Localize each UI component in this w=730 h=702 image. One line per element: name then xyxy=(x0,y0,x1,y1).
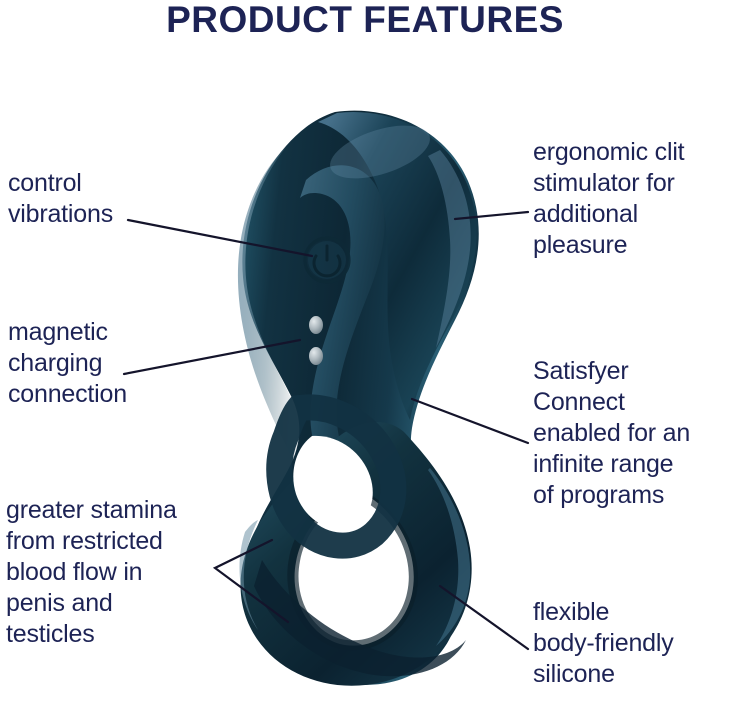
power-button[interactable] xyxy=(305,238,349,282)
callout-line: blood flow in xyxy=(6,557,177,588)
charging-pin-bottom xyxy=(309,347,323,365)
callout-line: additional xyxy=(533,199,684,230)
callout-line: testicles xyxy=(6,619,177,650)
callout-line: vibrations xyxy=(8,199,113,230)
product-features-infographic: PRODUCT FEATURES xyxy=(0,0,730,702)
callout-line: control xyxy=(8,168,113,199)
callout-line: greater stamina xyxy=(6,495,177,526)
callout-ergonomic-clit: ergonomic clit stimulator for additional… xyxy=(533,137,684,261)
callout-line: silicone xyxy=(533,659,674,690)
callout-satisfyer-connect: Satisfyer Connect enabled for an infinit… xyxy=(533,356,690,511)
callout-line: ergonomic clit xyxy=(533,137,684,168)
callout-line: pleasure xyxy=(533,230,684,261)
callout-line: magnetic xyxy=(8,317,127,348)
callout-line: connection xyxy=(8,379,127,410)
charging-pin-top xyxy=(309,316,323,334)
callout-line: infinite range xyxy=(533,449,690,480)
callout-magnetic-charging: magnetic charging connection xyxy=(8,317,127,410)
callout-line: from restricted xyxy=(6,526,177,557)
callout-line: Satisfyer xyxy=(533,356,690,387)
callout-line: body-friendly xyxy=(533,628,674,659)
callout-flexible-silicone: flexible body-friendly silicone xyxy=(533,597,674,690)
callout-line: charging xyxy=(8,348,127,379)
callout-line: penis and xyxy=(6,588,177,619)
callout-greater-stamina: greater stamina from restricted blood fl… xyxy=(6,495,177,650)
product-body xyxy=(238,111,479,686)
callout-line: enabled for an xyxy=(533,418,690,449)
callout-line: Connect xyxy=(533,387,690,418)
callout-control-vibrations: control vibrations xyxy=(8,168,113,230)
callout-line: flexible xyxy=(533,597,674,628)
callout-line: of programs xyxy=(533,480,690,511)
callout-line: stimulator for xyxy=(533,168,684,199)
